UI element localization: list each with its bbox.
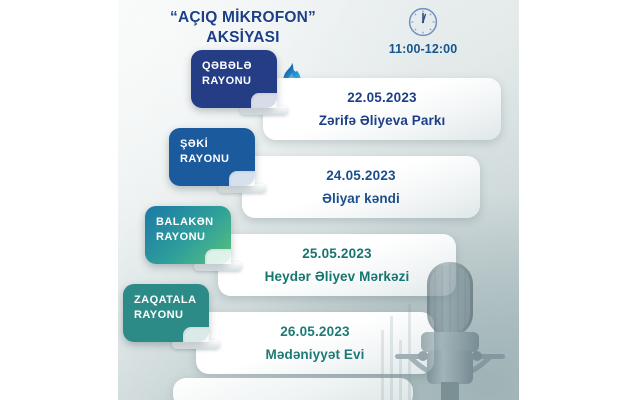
district-line-2: RAYONU	[180, 152, 244, 167]
district-badge: ZAQATALA RAYONU	[123, 284, 209, 342]
page-title: “AÇIQ MİKROFON” AKSİYASI	[118, 8, 368, 48]
event-date: 26.05.2023	[280, 324, 350, 339]
badge-notch	[229, 171, 255, 186]
district-line-2: RAYONU	[134, 308, 198, 323]
title-line-1: “AÇIQ MİKROFON”	[118, 8, 368, 28]
district-line-1: ZAQATALA	[134, 293, 198, 308]
schedule-row: 24.05.2023 Əliyar kəndi ŞƏKİ RAYONU	[118, 122, 519, 208]
screenshot-canvas: “AÇIQ MİKROFON” AKSİYASI azəriqaz	[0, 0, 637, 400]
microphone-icon	[375, 244, 519, 400]
event-date: 22.05.2023	[347, 90, 417, 105]
district-line-1: BALAKƏN	[156, 215, 220, 230]
event-date: 24.05.2023	[326, 168, 396, 183]
district-line-1: ŞƏKİ	[180, 137, 244, 152]
schedule-row: 22.05.2023 Zərifə Əliyeva Parkı QƏBƏLƏ R…	[118, 44, 519, 130]
badge-notch	[183, 327, 209, 342]
district-badge: ŞƏKİ RAYONU	[169, 128, 255, 186]
district-line-2: RAYONU	[202, 74, 266, 89]
microphone-illustration	[375, 244, 519, 400]
district-badge: BALAKƏN RAYONU	[145, 206, 231, 264]
clock-icon	[407, 6, 439, 38]
event-poster: “AÇIQ MİKROFON” AKSİYASI azəriqaz	[118, 0, 519, 400]
badge-notch	[251, 93, 277, 108]
event-date: 25.05.2023	[302, 246, 372, 261]
badge-notch	[205, 249, 231, 264]
district-badge: QƏBƏLƏ RAYONU	[191, 50, 277, 108]
district-line-1: QƏBƏLƏ	[202, 59, 266, 74]
event-place: Mədəniyyət Evi	[266, 347, 365, 362]
district-line-2: RAYONU	[156, 230, 220, 245]
